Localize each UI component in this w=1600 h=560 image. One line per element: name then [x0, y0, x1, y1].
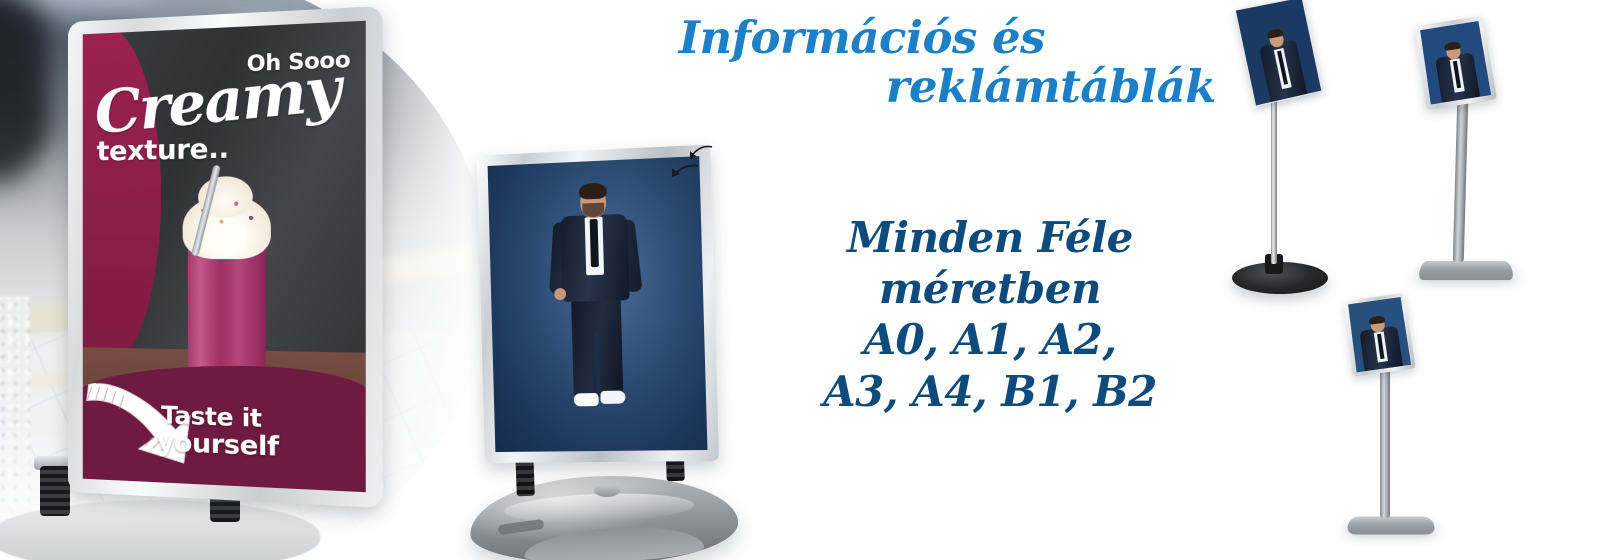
stand2-man-figure [1420, 21, 1491, 104]
banner-subheadline: Minden Féle méretben A0, A1, A2, A3, A4,… [790, 212, 1190, 417]
stand2-square-base [1417, 261, 1515, 280]
promo-banner: Oh Sooo Creamy texture.. Taste it yourse… [0, 0, 1600, 560]
headline-line-1: Információs és [660, 14, 1220, 63]
stand1-man-figure [1236, 0, 1321, 105]
left-a-frame-sign: Oh Sooo Creamy texture.. Taste it yourse… [68, 6, 382, 508]
center-poster-artwork [488, 156, 708, 452]
poster-cta-line1: Taste it [161, 403, 262, 431]
stand2-snap-frame [1415, 16, 1497, 111]
stand1-photo-panel [1235, 0, 1323, 107]
poster-headline-sub: texture.. [97, 135, 229, 166]
subhead-line-3: A0, A1, A2, [790, 314, 1190, 365]
banner-headline: Információs és reklámtáblák [660, 14, 1220, 111]
stand1-chrome-pole [1271, 92, 1277, 264]
stand3-rounded-base [1345, 516, 1436, 534]
silver-info-stand-square-base [1382, 0, 1557, 300]
poster-man-shoe-right [600, 391, 625, 404]
poster-cta-line2: yourself [157, 429, 279, 461]
subhead-line-4: A3, A4, B1, B2 [790, 366, 1190, 417]
left-sign-spring-1 [40, 466, 70, 516]
stand3-snap-frame [1344, 293, 1416, 377]
subhead-line-1: Minden Féle [790, 212, 1190, 263]
chrome-pole-stand-round-base [1230, 0, 1400, 300]
poster-man-shoe-left [574, 393, 599, 406]
poster-man-hair [579, 182, 607, 199]
stand2-photo-panel [1420, 21, 1491, 104]
center-snap-frame [477, 144, 719, 463]
poster-man-tie [590, 219, 599, 267]
center-windsign-a-board [470, 150, 760, 545]
headline-line-2: reklámtáblák [660, 63, 1220, 112]
stand2-pole [1453, 100, 1469, 262]
stand3-man-figure [1348, 297, 1411, 372]
base-fill-cap [594, 484, 620, 497]
subhead-line-2: méretben [790, 263, 1190, 314]
stand3-photo-panel [1348, 297, 1411, 372]
snap-open-arrow-icon-2 [670, 162, 700, 182]
silver-info-stand-rounded-base [1300, 282, 1475, 560]
left-poster-artwork: Oh Sooo Creamy texture.. Taste it yourse… [83, 21, 366, 492]
stand3-pole [1380, 368, 1390, 518]
gravel-area [0, 296, 30, 506]
